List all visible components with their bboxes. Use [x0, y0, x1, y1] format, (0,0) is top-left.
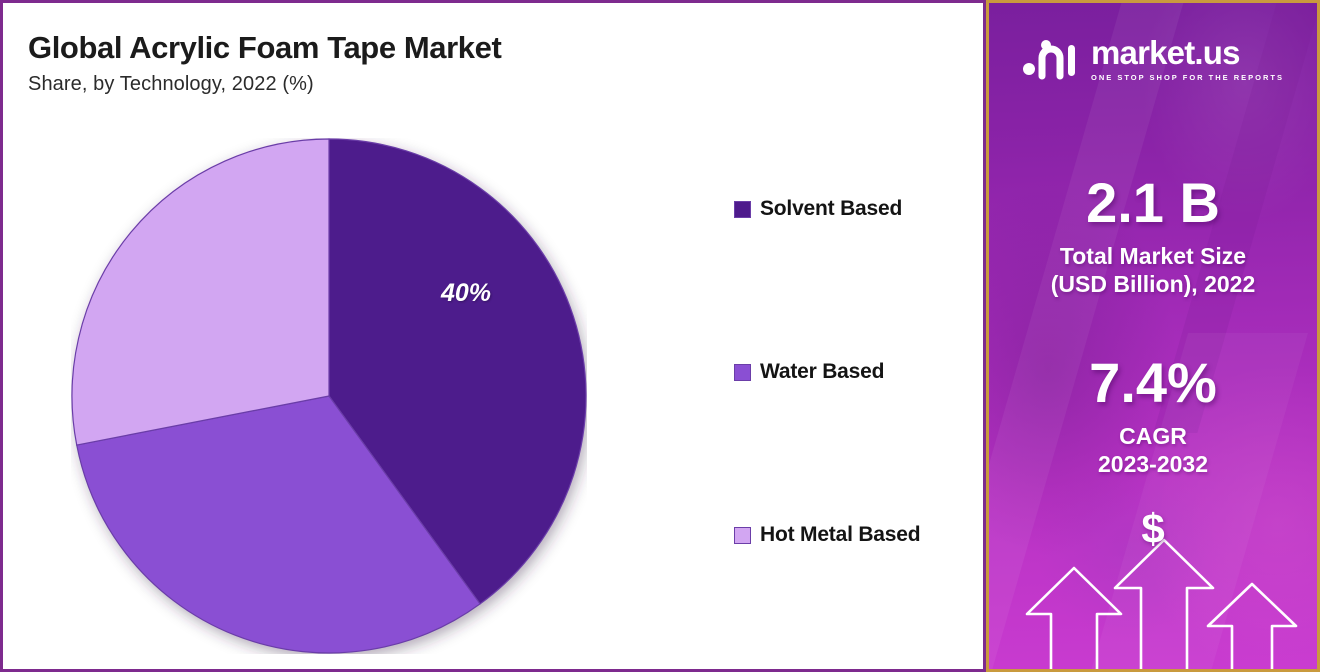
legend-item-hot-metal-based[interactable]: Hot Metal Based	[734, 523, 920, 547]
infographic-page: Global Acrylic Foam Tape Market Share, b…	[0, 0, 1320, 672]
stat-caption-line: (USD Billion), 2022	[989, 270, 1317, 298]
pie-slice-label-solvent-based: 40%	[441, 279, 491, 308]
stat-caption: CAGR 2023-2032	[989, 422, 1317, 478]
sidebar-content: market.us ONE STOP SHOP FOR THE REPORTS …	[989, 3, 1317, 669]
stat-value: 2.1 B	[989, 175, 1317, 231]
logo-tagline: ONE STOP SHOP FOR THE REPORTS	[1091, 73, 1284, 82]
market-us-logo-icon	[1022, 36, 1080, 82]
logo-wordmark: market.us	[1091, 36, 1240, 69]
stat-total-market-size: 2.1 B Total Market Size (USD Billion), 2…	[989, 175, 1317, 298]
stat-caption-line: 2023-2032	[989, 450, 1317, 478]
legend-item-water-based[interactable]: Water Based	[734, 360, 884, 384]
frame-border-right	[983, 0, 986, 672]
legend-swatch-icon	[734, 201, 751, 218]
chart-panel: Global Acrylic Foam Tape Market Share, b…	[3, 3, 983, 669]
logo-text-block: market.us ONE STOP SHOP FOR THE REPORTS	[1091, 36, 1284, 82]
legend-swatch-icon	[734, 527, 751, 544]
legend-item-solvent-based[interactable]: Solvent Based	[734, 197, 902, 221]
stat-caption-line: CAGR	[989, 422, 1317, 450]
page-title: Global Acrylic Foam Tape Market	[28, 31, 501, 66]
stat-caption: Total Market Size (USD Billion), 2022	[989, 242, 1317, 298]
chart-legend: Solvent Based Water Based Hot Metal Base…	[734, 3, 983, 669]
page-subtitle: Share, by Technology, 2022 (%)	[28, 73, 501, 96]
stat-caption-line: Total Market Size	[989, 242, 1317, 270]
pie-chart: 40%	[71, 138, 587, 654]
legend-item-label: Solvent Based	[760, 197, 902, 221]
legend-item-label: Hot Metal Based	[760, 523, 920, 547]
pie-chart-svg	[71, 138, 587, 654]
growth-graphic: $	[989, 494, 1317, 669]
frame-border-top	[0, 0, 986, 3]
pie-slice-hot-metal-based[interactable]	[72, 139, 329, 445]
stat-value: 7.4%	[989, 355, 1317, 411]
stats-sidebar: market.us ONE STOP SHOP FOR THE REPORTS …	[986, 0, 1320, 672]
title-block: Global Acrylic Foam Tape Market Share, b…	[28, 31, 501, 96]
brand-logo[interactable]: market.us ONE STOP SHOP FOR THE REPORTS	[989, 36, 1317, 82]
frame-border-left	[0, 0, 3, 672]
dollar-sign-icon: $	[989, 508, 1317, 550]
stat-cagr: 7.4% CAGR 2023-2032	[989, 355, 1317, 478]
legend-item-label: Water Based	[760, 360, 884, 384]
legend-swatch-icon	[734, 364, 751, 381]
